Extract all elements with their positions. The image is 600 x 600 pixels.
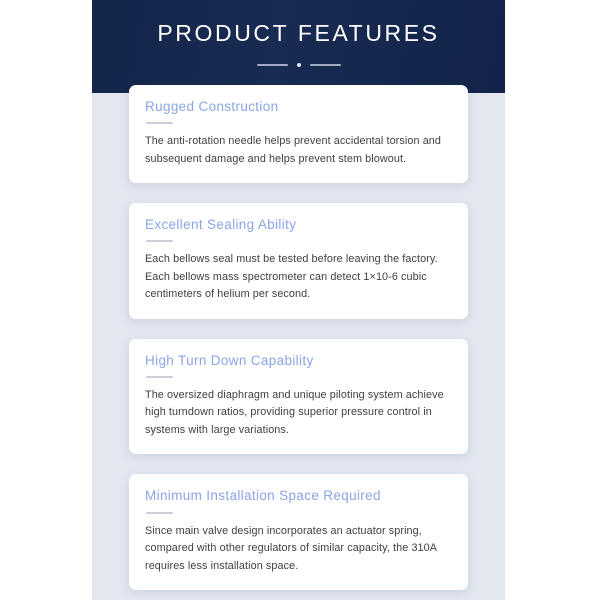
dash-dot-dash-divider-icon <box>92 63 505 67</box>
feature-card-rule <box>146 122 173 124</box>
feature-card: Rugged Construction The anti-rotation ne… <box>129 85 468 183</box>
feature-card-rule <box>146 512 173 514</box>
feature-card-list: Rugged Construction The anti-rotation ne… <box>92 85 505 590</box>
feature-card-heading: Rugged Construction <box>145 99 452 115</box>
feature-card-rule <box>146 240 173 242</box>
feature-card-heading: Minimum Installation Space Required <box>145 488 452 504</box>
feature-card-body: The oversized diaphragm and unique pilot… <box>145 387 452 439</box>
feature-card-heading: Excellent Sealing Ability <box>145 217 452 233</box>
divider-rule-right <box>310 64 341 66</box>
divider-dot <box>297 63 301 67</box>
feature-card-rule <box>146 376 173 378</box>
hero-header: PRODUCT FEATURES <box>92 0 505 93</box>
page-title: PRODUCT FEATURES <box>92 22 505 45</box>
feature-card: High Turn Down Capability The oversized … <box>129 339 468 455</box>
feature-card-body: Since main valve design incorporates an … <box>145 523 452 575</box>
divider-rule-left <box>257 64 288 66</box>
feature-card-body: Each bellows seal must be tested before … <box>145 251 452 303</box>
page-root: PRODUCT FEATURES Rugged Construction The… <box>0 0 600 600</box>
feature-card-heading: High Turn Down Capability <box>145 353 452 369</box>
feature-card: Minimum Installation Space Required Sinc… <box>129 474 468 590</box>
feature-card-body: The anti-rotation needle helps prevent a… <box>145 133 452 168</box>
feature-card: Excellent Sealing Ability Each bellows s… <box>129 203 468 319</box>
content-column: PRODUCT FEATURES Rugged Construction The… <box>92 0 505 600</box>
